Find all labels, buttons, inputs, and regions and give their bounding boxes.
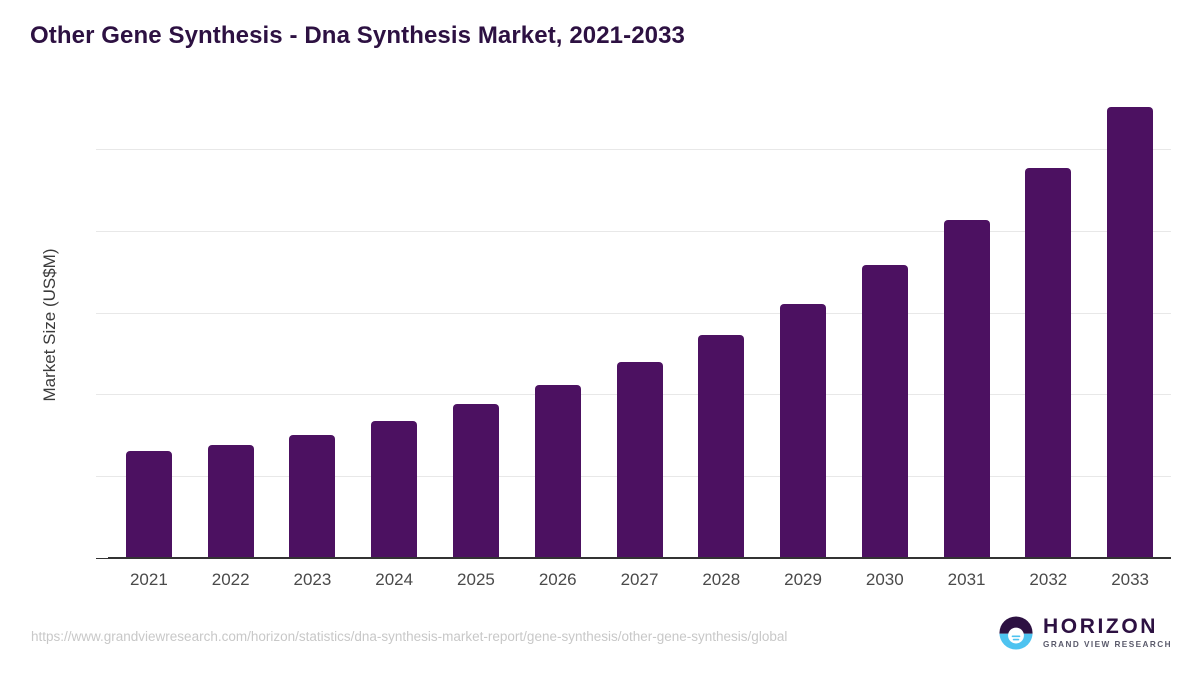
x-axis-tick-label: 2031 [926, 570, 1008, 590]
chart-card: Other Gene Synthesis - Dna Synthesis Mar… [0, 0, 1200, 675]
horizon-logo-text: HORIZON GRAND VIEW RESEARCH [1043, 616, 1172, 650]
x-axis-tick-label: 2026 [517, 570, 599, 590]
horizon-logo: HORIZON GRAND VIEW RESEARCH [998, 615, 1172, 651]
x-axis-line [108, 557, 1171, 559]
gridline [108, 149, 1171, 150]
bar[interactable] [1107, 107, 1153, 558]
y-axis-tick-mark [96, 558, 108, 559]
x-axis-tick-label: 2028 [680, 570, 762, 590]
x-axis-tick-label: 2022 [190, 570, 272, 590]
bar[interactable] [1025, 168, 1071, 558]
bar[interactable] [780, 304, 826, 558]
gridline [108, 231, 1171, 232]
bar[interactable] [944, 220, 990, 558]
bar[interactable] [862, 265, 908, 558]
bar[interactable] [289, 435, 335, 558]
y-axis-title: Market Size (US$M) [40, 248, 60, 401]
y-axis-tick-mark [96, 231, 108, 232]
x-axis-tick-label: 2024 [353, 570, 435, 590]
page-title: Other Gene Synthesis - Dna Synthesis Mar… [30, 22, 685, 50]
bar[interactable] [698, 335, 744, 558]
horizon-logo-icon [998, 615, 1034, 651]
bar[interactable] [126, 451, 172, 558]
bar[interactable] [371, 421, 417, 558]
logo-tagline: GRAND VIEW RESEARCH [1043, 640, 1172, 650]
x-axis-tick-label: 2027 [599, 570, 681, 590]
bar[interactable] [617, 362, 663, 558]
bar[interactable] [453, 404, 499, 558]
x-axis-tick-label: 2023 [272, 570, 354, 590]
logo-wordmark: HORIZON [1043, 616, 1172, 638]
gridline [108, 313, 1171, 314]
x-axis-tick-label: 2021 [108, 570, 190, 590]
y-axis-tick-mark [96, 149, 108, 150]
y-axis-tick-mark [96, 476, 108, 477]
x-axis-tick-label: 2030 [844, 570, 926, 590]
y-axis-tick-mark [96, 313, 108, 314]
bar[interactable] [208, 445, 254, 558]
plot-area: Market Size (US$M) 0100200300400500 [108, 92, 1171, 558]
y-axis-tick-mark [96, 394, 108, 395]
x-axis-tick-label: 2032 [1007, 570, 1089, 590]
x-axis-tick-label: 2025 [435, 570, 517, 590]
x-axis-tick-label: 2033 [1089, 570, 1171, 590]
bar[interactable] [535, 385, 581, 558]
x-axis-tick-label: 2029 [762, 570, 844, 590]
source-url[interactable]: https://www.grandviewresearch.com/horizo… [31, 629, 787, 644]
